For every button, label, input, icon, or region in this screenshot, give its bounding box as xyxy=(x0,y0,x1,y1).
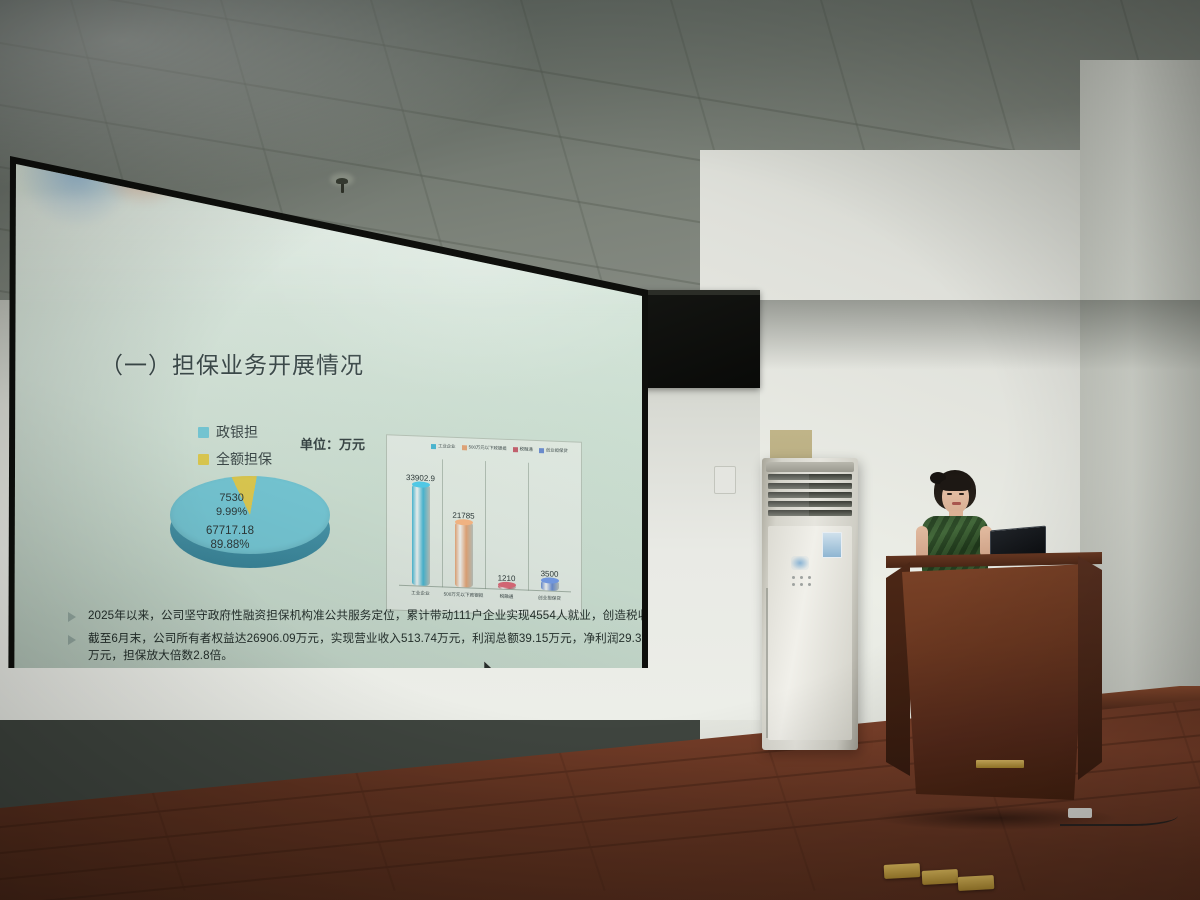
legend-swatch-icon xyxy=(539,448,544,453)
bar-chart: 工业企业500万元以下政银担税融通创业担保贷 33902.9工业企业217855… xyxy=(386,434,582,618)
category-divider xyxy=(485,461,486,589)
floor-brass-plate xyxy=(958,875,995,891)
bar-value-label: 21785 xyxy=(438,510,490,521)
ac-louvers-icon xyxy=(768,474,852,522)
slide-bullet: 截至6月末，公司所有者权益达26906.09万元，实现营业收入513.74万元，… xyxy=(62,631,622,664)
bullet-line: 万元，担保放大倍数2.8倍。 xyxy=(88,648,622,664)
power-adapter xyxy=(1068,808,1092,818)
bar-legend-item: 税融通 xyxy=(513,446,533,453)
bar-legend-item: 创业担保贷 xyxy=(539,447,568,454)
conference-room-scene: （一）担保业务开展情况 政银担 全额担保 单位：万元 xyxy=(0,0,1200,900)
bullet-triangle-icon xyxy=(68,635,76,645)
legend-label: 政银担 xyxy=(216,422,258,442)
bar xyxy=(412,484,430,585)
bullet-triangle-icon xyxy=(68,612,76,622)
slide-bullet-list: 2025年以来，公司坚守政府性融资担保机构准公共服务定位，累计带动111户企业实… xyxy=(62,608,622,668)
legend-swatch-icon xyxy=(513,447,518,452)
slide-title: （一）担保业务开展情况 xyxy=(100,346,364,380)
podium-brass-emblem xyxy=(976,760,1024,768)
ac-energy-label xyxy=(822,532,842,558)
legend-swatch-icon xyxy=(198,427,209,438)
legend-label: 工业企业 xyxy=(438,443,456,450)
bar-legend-item: 500万元以下政银担 xyxy=(462,444,507,452)
slide-bullet: 2025年以来，公司坚守政府性融资担保机构准公共服务定位，累计带动111户企业实… xyxy=(62,608,622,624)
air-conditioner-unit xyxy=(762,458,858,750)
pie-slice-label-small: 7530 9.99% xyxy=(216,492,247,520)
legend-item: 政银担 xyxy=(198,422,272,442)
legend-swatch-icon xyxy=(462,445,467,450)
bar xyxy=(498,585,516,589)
legend-swatch-icon xyxy=(198,454,209,465)
projection-screen[interactable]: （一）担保业务开展情况 政银担 全额担保 单位：万元 xyxy=(0,138,648,668)
unit-label: 单位：万元 xyxy=(300,434,365,453)
bar-category-label: 创业担保贷 xyxy=(524,595,576,603)
bar xyxy=(541,580,559,591)
legend-label: 税融通 xyxy=(520,446,533,453)
bar-legend-item: 工业企业 xyxy=(431,443,456,450)
ac-brand-logo-icon xyxy=(791,556,809,570)
floor-brass-plate xyxy=(922,869,959,885)
bullet-line: 截至6月末，公司所有者权益达26906.09万元，实现营业收入513.74万元，… xyxy=(88,631,622,647)
mouse-cursor-icon xyxy=(484,661,493,668)
light-switch-plate[interactable] xyxy=(714,466,736,494)
legend-label: 500万元以下政银担 xyxy=(469,444,507,451)
pie-chart: 7530 9.99% 67717.18 89.88% xyxy=(170,468,330,573)
pie-slice-label-large: 67717.18 89.88% xyxy=(206,524,254,553)
podium xyxy=(886,552,1102,820)
presenter-eye xyxy=(959,493,964,495)
ac-top-vent xyxy=(766,462,854,472)
presenter-mouth xyxy=(952,502,961,505)
podium-right-side xyxy=(1078,556,1102,782)
presenter-eye xyxy=(947,493,952,495)
bullet-line: 2025年以来，公司坚守政府性融资担保机构准公共服务定位，累计带动111户企业实… xyxy=(88,608,622,624)
wall-display-panel xyxy=(638,290,760,388)
legend-label: 全额担保 xyxy=(216,449,272,469)
decorative-wave xyxy=(0,198,648,318)
bar-chart-legend: 工业企业500万元以下政银担税融通创业担保贷 xyxy=(431,443,568,454)
bar-value-label: 33902.9 xyxy=(395,473,447,484)
legend-item: 全额担保 xyxy=(198,449,272,469)
projected-slide[interactable]: （一）担保业务开展情况 政银担 全额担保 单位：万元 xyxy=(0,138,648,668)
presenter-fringe xyxy=(940,478,971,491)
legend-swatch-icon xyxy=(431,443,436,448)
floor-brass-plate xyxy=(884,863,921,879)
bar xyxy=(455,522,473,587)
ac-body-panel xyxy=(768,526,852,740)
ac-control-panel[interactable] xyxy=(792,576,814,592)
ac-seam xyxy=(766,588,768,738)
bar-chart-plot: 33902.9工业企业21785500万元以下政银担1210税融通3500创业担… xyxy=(399,458,571,593)
legend-label: 创业担保贷 xyxy=(546,447,568,454)
